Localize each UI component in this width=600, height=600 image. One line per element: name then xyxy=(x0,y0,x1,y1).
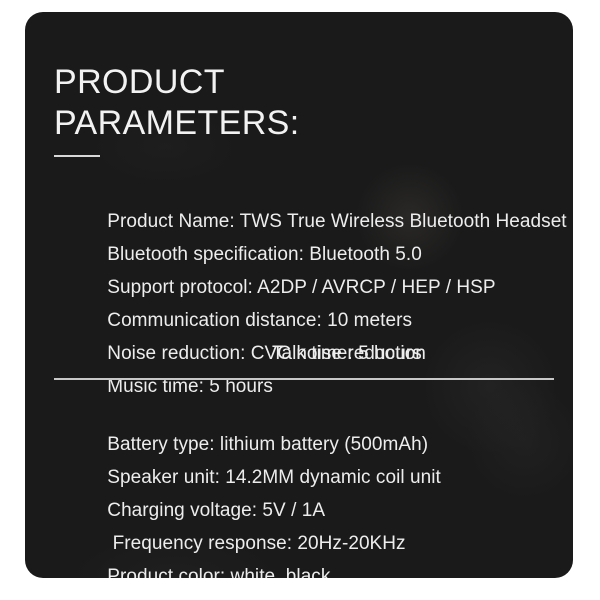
page-title: PRODUCT PARAMETERS: xyxy=(54,62,554,144)
title-underline-rule xyxy=(54,155,100,157)
spec-row: Product Name: TWS True Wireless Bluetoot… xyxy=(54,172,573,205)
card-content: PRODUCT PARAMETERS: Product Name: TWS Tr… xyxy=(54,12,573,578)
product-parameters-card: PRODUCT PARAMETERS: Product Name: TWS Tr… xyxy=(25,12,573,578)
spec-row: Noise reduction: CVC noise reduction xyxy=(54,304,573,337)
section-divider-rule xyxy=(54,378,554,380)
spec-list-top: Product Name: TWS True Wireless Bluetoot… xyxy=(54,172,573,370)
spec-text: Product color: white, black xyxy=(107,566,330,578)
spec-row: Product color: white, black xyxy=(54,527,573,560)
spec-text-secondary: Talk time: 5 hours xyxy=(272,337,422,370)
spec-list-bottom: Battery type: lithium battery (500mAh) S… xyxy=(54,395,573,560)
screenshot-root: PRODUCT PARAMETERS: Product Name: TWS Tr… xyxy=(0,0,600,600)
spec-row: Support protocol: A2DP / AVRCP / HEP / H… xyxy=(54,238,573,271)
spec-row: Music time: 5 hours Talk time: 5 hours xyxy=(54,337,573,370)
spec-row: Frequency response: 20Hz-20KHz xyxy=(54,494,573,527)
spec-row: Communication distance: 10 meters xyxy=(54,271,573,304)
spec-row: Charging voltage: 5V / 1A xyxy=(54,461,573,494)
spec-row: Battery type: lithium battery (500mAh) xyxy=(54,395,573,428)
spec-row: Speaker unit: 14.2MM dynamic coil unit xyxy=(54,428,573,461)
spec-row: Bluetooth specification: Bluetooth 5.0 xyxy=(54,205,573,238)
